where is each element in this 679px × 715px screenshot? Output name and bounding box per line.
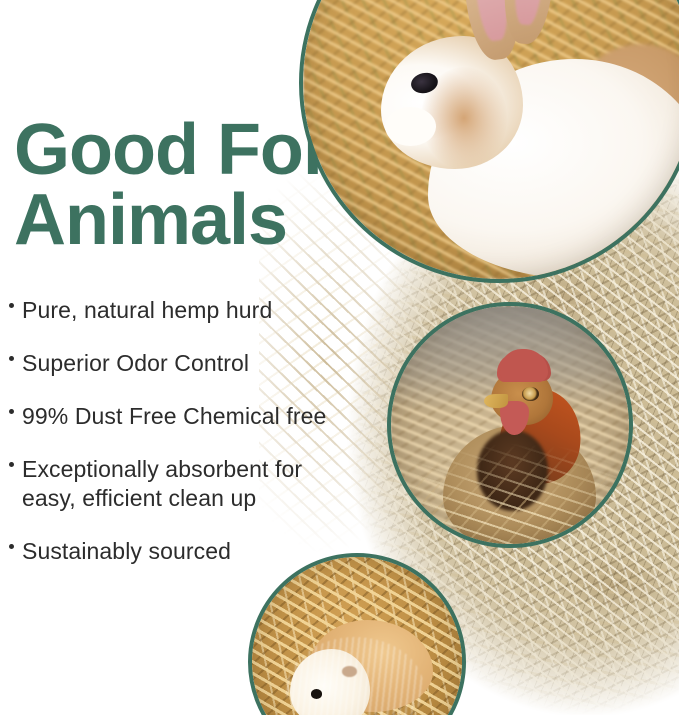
product-feature-poster: Good For Animals Pure, natural hemp hurd… xyxy=(0,0,679,715)
bullet-dot-icon xyxy=(9,409,14,414)
chicken-nest-straw xyxy=(391,306,629,544)
list-item-label: Superior Odor Control xyxy=(22,350,249,376)
rabbit-photo xyxy=(299,0,679,283)
list-item-label: Pure, natural hemp hurd xyxy=(22,297,272,323)
list-item-label: 99% Dust Free Chemical free xyxy=(22,403,326,429)
page-title-line-2: Animals xyxy=(14,186,344,256)
bullet-dot-icon xyxy=(9,303,14,308)
chicken-photo xyxy=(387,302,633,548)
list-item: 99% Dust Free Chemical free xyxy=(8,402,348,431)
list-item-label: Sustainably sourced xyxy=(22,538,231,564)
list-item-label: Exceptionally absorbent for easy, effici… xyxy=(22,456,302,511)
page-title-line-1: Good For xyxy=(14,116,344,186)
feature-list: Pure, natural hemp hurd Superior Odor Co… xyxy=(8,296,348,566)
chicken-photo-image xyxy=(391,306,629,544)
rabbit-muzzle xyxy=(385,107,436,146)
rabbit-ear-inner xyxy=(512,0,548,26)
bullet-dot-icon xyxy=(9,544,14,549)
list-item: Superior Odor Control xyxy=(8,349,348,378)
list-item: Exceptionally absorbent for easy, effici… xyxy=(8,455,348,513)
bullet-dot-icon xyxy=(9,356,14,361)
rabbit-photo-image xyxy=(303,0,679,279)
bullet-dot-icon xyxy=(9,462,14,467)
guinea-pig-photo-image xyxy=(252,557,462,715)
list-item: Pure, natural hemp hurd xyxy=(8,296,348,325)
guinea-pig-photo xyxy=(248,553,466,715)
guinea-pig-ear xyxy=(342,666,357,677)
page-title: Good For Animals xyxy=(14,116,344,256)
